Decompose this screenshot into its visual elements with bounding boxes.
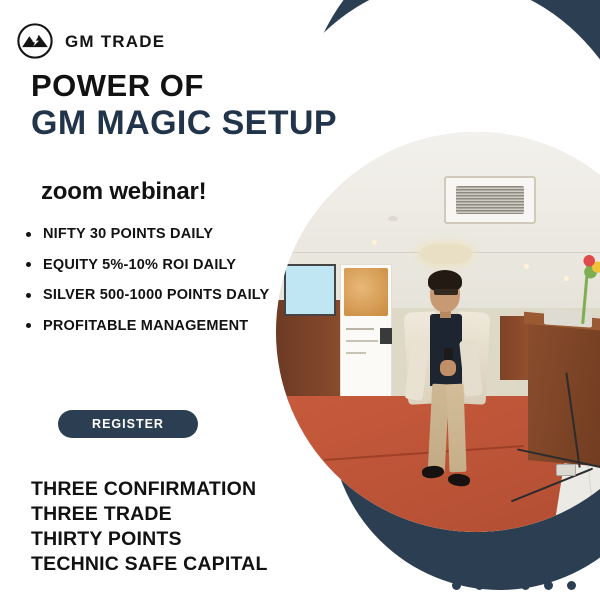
footer-line: TECHNIC SAFE CAPITAL — [31, 552, 268, 577]
photo-speaker-leg-right — [446, 384, 466, 473]
decorative-dot — [521, 558, 530, 567]
photo-downlight — [564, 276, 569, 281]
page-title-line-2: GM MAGIC SETUP — [31, 106, 337, 140]
page-title-line-1: POWER OF — [31, 70, 204, 101]
brand-header: GM TRADE — [16, 22, 165, 60]
subtitle: zoom webinar! — [41, 180, 206, 204]
register-button[interactable]: REGISTER — [58, 410, 198, 438]
photo-power-adapter — [556, 464, 576, 476]
list-item: PROFITABLE MANAGEMENT — [26, 319, 269, 334]
list-item: EQUITY 5%-10% ROI DAILY — [26, 258, 269, 273]
photo-downlight — [524, 264, 529, 269]
footer-tagline-block: THREE CONFIRMATION THREE TRADE THIRTY PO… — [31, 477, 268, 577]
footer-line: THREE CONFIRMATION — [31, 477, 268, 502]
photo-speaker-glasses — [434, 289, 458, 295]
list-item: SILVER 500-1000 POINTS DAILY — [26, 288, 269, 303]
decorative-dot — [567, 581, 576, 590]
photo-banner-text-line — [346, 352, 366, 354]
decorative-dot — [498, 581, 507, 590]
decorative-dot — [521, 581, 530, 590]
decorative-dot — [475, 581, 484, 590]
photo-downlight — [372, 240, 377, 245]
decorative-dot — [452, 558, 461, 567]
feature-list: NIFTY 30 POINTS DAILY EQUITY 5%-10% ROI … — [26, 227, 269, 349]
dot-grid-decoration — [452, 558, 590, 600]
photo-banner-qr — [380, 328, 392, 344]
photo-ac-grill — [456, 186, 524, 214]
decorative-dot — [498, 558, 507, 567]
photo-banner-text-line — [346, 328, 374, 330]
decorative-dot — [452, 581, 461, 590]
photo-banner-text-line — [346, 340, 378, 342]
mountain-circle-logo-icon — [16, 22, 54, 60]
footer-line: THREE TRADE — [31, 502, 268, 527]
brand-name: GM TRADE — [65, 33, 165, 50]
speaker-photo — [276, 132, 600, 532]
decorative-dot — [567, 558, 576, 567]
decorative-dot — [544, 558, 553, 567]
footer-line: THIRTY POINTS — [31, 527, 268, 552]
poster-canvas: GM TRADE POWER OF GM MAGIC SETUP zoom we… — [0, 0, 600, 600]
photo-flower-bouquet — [578, 248, 600, 280]
photo-podium — [528, 316, 600, 468]
photo-banner-image — [344, 268, 388, 316]
decorative-dot — [544, 581, 553, 590]
photo-projector-screen — [284, 264, 336, 316]
decorative-dot — [475, 558, 484, 567]
photo-speaker-hand — [440, 360, 456, 376]
list-item: NIFTY 30 POINTS DAILY — [26, 227, 269, 242]
photo-smoke-detector — [388, 216, 398, 221]
photo-ceiling-lamp — [420, 244, 472, 264]
